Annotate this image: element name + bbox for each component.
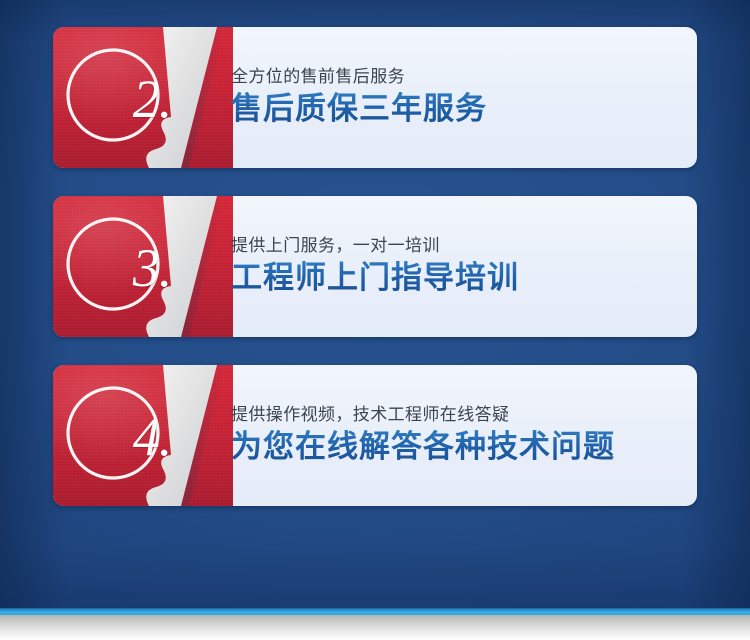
feature-card[interactable]: 3. 提供上门服务，一对一培训 工程师上门指导培训: [53, 196, 697, 337]
card-text-block: 提供上门服务，一对一培训 工程师上门指导培训: [231, 196, 519, 337]
card-subtitle: 提供上门服务，一对一培训: [231, 237, 519, 256]
card-headline: 为您在线解答各种技术问题: [231, 430, 615, 465]
service-feature-banner: 2. 全方位的售前售后服务 售后质保三年服务: [0, 0, 750, 640]
page-peel-fold-icon: [53, 27, 253, 168]
page-peel-fold-icon: [53, 365, 253, 506]
feature-card[interactable]: 2. 全方位的售前售后服务 售后质保三年服务: [53, 27, 697, 168]
card-text-block: 全方位的售前售后服务 售后质保三年服务: [231, 27, 487, 168]
card-text-block: 提供操作视频，技术工程师在线答疑 为您在线解答各种技术问题: [231, 365, 615, 506]
footer-gray-gradient: [0, 615, 750, 640]
card-headline: 售后质保三年服务: [231, 92, 487, 127]
card-subtitle: 全方位的售前售后服务: [231, 68, 487, 87]
card-subtitle: 提供操作视频，技术工程师在线答疑: [231, 406, 615, 425]
card-headline: 工程师上门指导培训: [231, 261, 519, 296]
feature-card[interactable]: 4. 提供操作视频，技术工程师在线答疑 为您在线解答各种技术问题: [53, 365, 697, 506]
page-peel-fold-icon: [53, 196, 253, 337]
cyan-divider-line: [0, 608, 750, 615]
